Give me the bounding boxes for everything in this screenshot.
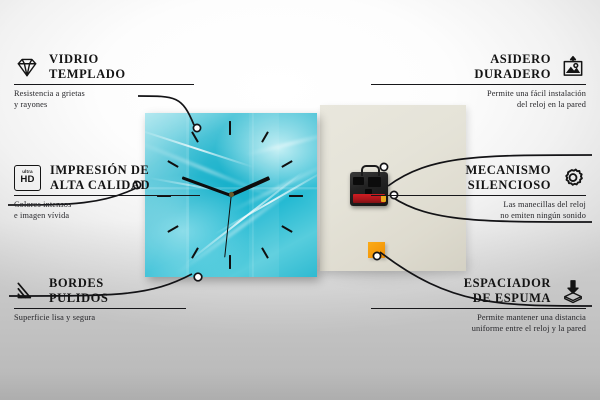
infographic-canvas: VIDRIO TEMPLADO Resistencia a grietas y … xyxy=(0,0,600,400)
feature-title-line1: ESPACIADOR xyxy=(464,276,551,290)
feature-desc-line1: Resistencia a grietas xyxy=(14,89,85,98)
ultra-hd-icon: ultra HD xyxy=(14,165,41,191)
feature-title: IMPRESIÓN DE ALTA CALIDAD xyxy=(50,163,150,192)
feature-header: ASIDERO DURADERO xyxy=(371,52,586,81)
feature-desc-line1: Colores intensos xyxy=(14,200,71,209)
feature-header: MECANISMO SILENCIOSO xyxy=(371,163,586,192)
feature-title-line2: ALTA CALIDAD xyxy=(50,178,150,192)
feature-title: ESPACIADOR DE ESPUMA xyxy=(464,276,551,305)
feature-title-line2: DE ESPUMA xyxy=(473,291,551,305)
diamond-icon xyxy=(14,54,40,80)
feature-title-line1: MECANISMO xyxy=(465,163,551,177)
feature-title-line2: TEMPLADO xyxy=(49,67,126,81)
feature-header: BORDES PULIDOS xyxy=(14,276,229,305)
feature-divider xyxy=(14,195,200,196)
feature-desc-line1: Superficie lisa y segura xyxy=(14,313,95,322)
feature-title: MECANISMO SILENCIOSO xyxy=(465,163,551,192)
feature-description: Colores intensos e imagen vívida xyxy=(14,200,229,220)
feature-title-line1: ASIDERO xyxy=(490,52,551,66)
feature-desc-line1: Permite una fácil instalación xyxy=(487,89,586,98)
feature-desc-line1: Permite mantener una distancia xyxy=(477,313,586,322)
clock-tick-6 xyxy=(229,255,231,269)
feature-desc-line1: Las manecillas del reloj xyxy=(503,200,586,209)
feature-desc-line2: e imagen vívida xyxy=(14,211,69,220)
feature-divider xyxy=(14,308,186,309)
feature-espaciador-espuma[interactable]: ESPACIADOR DE ESPUMA Permite mantener un… xyxy=(371,276,586,334)
ultra-hd-icon-main-text: HD xyxy=(20,175,34,185)
gear-icon xyxy=(560,165,586,191)
feature-title-line1: BORDES xyxy=(49,276,104,290)
feature-description: Resistencia a grietas y rayones xyxy=(14,89,229,109)
polished-edges-icon xyxy=(14,278,40,304)
feature-title-line1: VIDRIO xyxy=(49,52,99,66)
clock-tick-3 xyxy=(289,195,303,197)
feature-title-line2: SILENCIOSO xyxy=(468,178,551,192)
feature-mecanismo-silencioso[interactable]: MECANISMO SILENCIOSO Las manecillas del … xyxy=(371,163,586,221)
feature-title: BORDES PULIDOS xyxy=(49,276,108,305)
feature-header: ultra HD IMPRESIÓN DE ALTA CALIDAD xyxy=(14,163,229,192)
foam-spacer xyxy=(368,242,385,258)
feature-vidrio-templado[interactable]: VIDRIO TEMPLADO Resistencia a grietas y … xyxy=(14,52,229,110)
feature-description: Superficie lisa y segura xyxy=(14,313,229,323)
feature-impresion-alta-calidad[interactable]: ultra HD IMPRESIÓN DE ALTA CALIDAD Color… xyxy=(14,163,229,221)
clock-tick-12 xyxy=(229,121,231,135)
feature-title: ASIDERO DURADERO xyxy=(474,52,551,81)
feature-title-line2: DURADERO xyxy=(474,67,551,81)
mechanism-block-left xyxy=(353,177,364,185)
feature-desc-line2: y rayones xyxy=(14,100,47,109)
feature-description: Permite mantener una distancia uniforme … xyxy=(371,313,586,333)
clock-hub xyxy=(229,192,234,197)
feature-desc-line2: del reloj en la pared xyxy=(517,100,586,109)
feature-divider xyxy=(371,308,586,309)
feature-divider xyxy=(14,84,194,85)
feature-header: VIDRIO TEMPLADO xyxy=(14,52,229,81)
feature-desc-line2: no emiten ningún sonido xyxy=(500,211,586,220)
feature-divider xyxy=(371,195,586,196)
feature-header: ESPACIADOR DE ESPUMA xyxy=(371,276,586,305)
feature-bordes-pulidos[interactable]: BORDES PULIDOS Superficie lisa y segura xyxy=(14,276,229,324)
feature-title: VIDRIO TEMPLADO xyxy=(49,52,126,81)
feature-description: Permite una fácil instalación del reloj … xyxy=(371,89,586,109)
foam-spacer-icon xyxy=(560,278,586,304)
feature-divider xyxy=(371,84,586,85)
feature-desc-line2: uniforme entre el reloj y la pared xyxy=(472,324,586,333)
feature-asidero-duradero[interactable]: ASIDERO DURADERO Permite una fácil insta… xyxy=(371,52,586,110)
feature-title-line2: PULIDOS xyxy=(49,291,108,305)
feature-title-line1: IMPRESIÓN DE xyxy=(50,163,149,177)
picture-hanger-icon xyxy=(560,54,586,80)
feature-description: Las manecillas del reloj no emiten ningú… xyxy=(371,200,586,220)
